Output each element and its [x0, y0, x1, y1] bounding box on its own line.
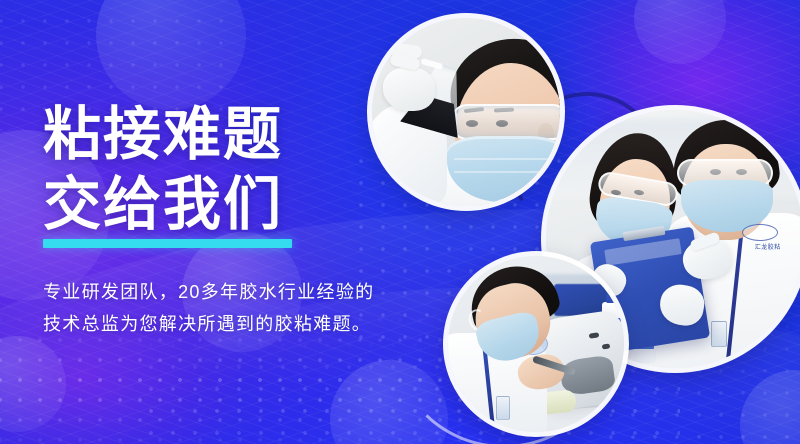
- photo-technician-applying-adhesive: [448, 256, 624, 432]
- headline-underline-bar: [43, 239, 292, 248]
- photo-chemist-scene: [372, 18, 560, 206]
- subtitle-block: 专业研发团队，20多年胶水行业经验的 技术总监为您解决所遇到的胶粘难题。: [43, 276, 374, 340]
- gloved-hand: [383, 67, 435, 111]
- photo-applying-scene: [448, 256, 624, 432]
- id-badge: [711, 321, 727, 347]
- headline-line-1: 粘接难题: [43, 100, 403, 170]
- subtitle-line-2: 技术总监为您解决所遇到的胶粘难题。: [43, 308, 374, 340]
- safety-goggles: [451, 104, 560, 140]
- id-badge: [496, 396, 510, 420]
- coat-logo-text: 汇龙胶粘: [755, 242, 781, 251]
- headline-line-2: 交给我们: [43, 170, 403, 240]
- promo-banner: 粘接难题 交给我们 专业研发团队，20多年胶水行业经验的 技术总监为您解决所遇到…: [0, 0, 800, 444]
- photo-chemist-holding-flask: [372, 18, 560, 206]
- coat-logo-oval: [742, 224, 778, 241]
- subtitle-line-1: 专业研发团队，20多年胶水行业经验的: [43, 276, 374, 308]
- headline-block: 粘接难题 交给我们: [43, 100, 403, 240]
